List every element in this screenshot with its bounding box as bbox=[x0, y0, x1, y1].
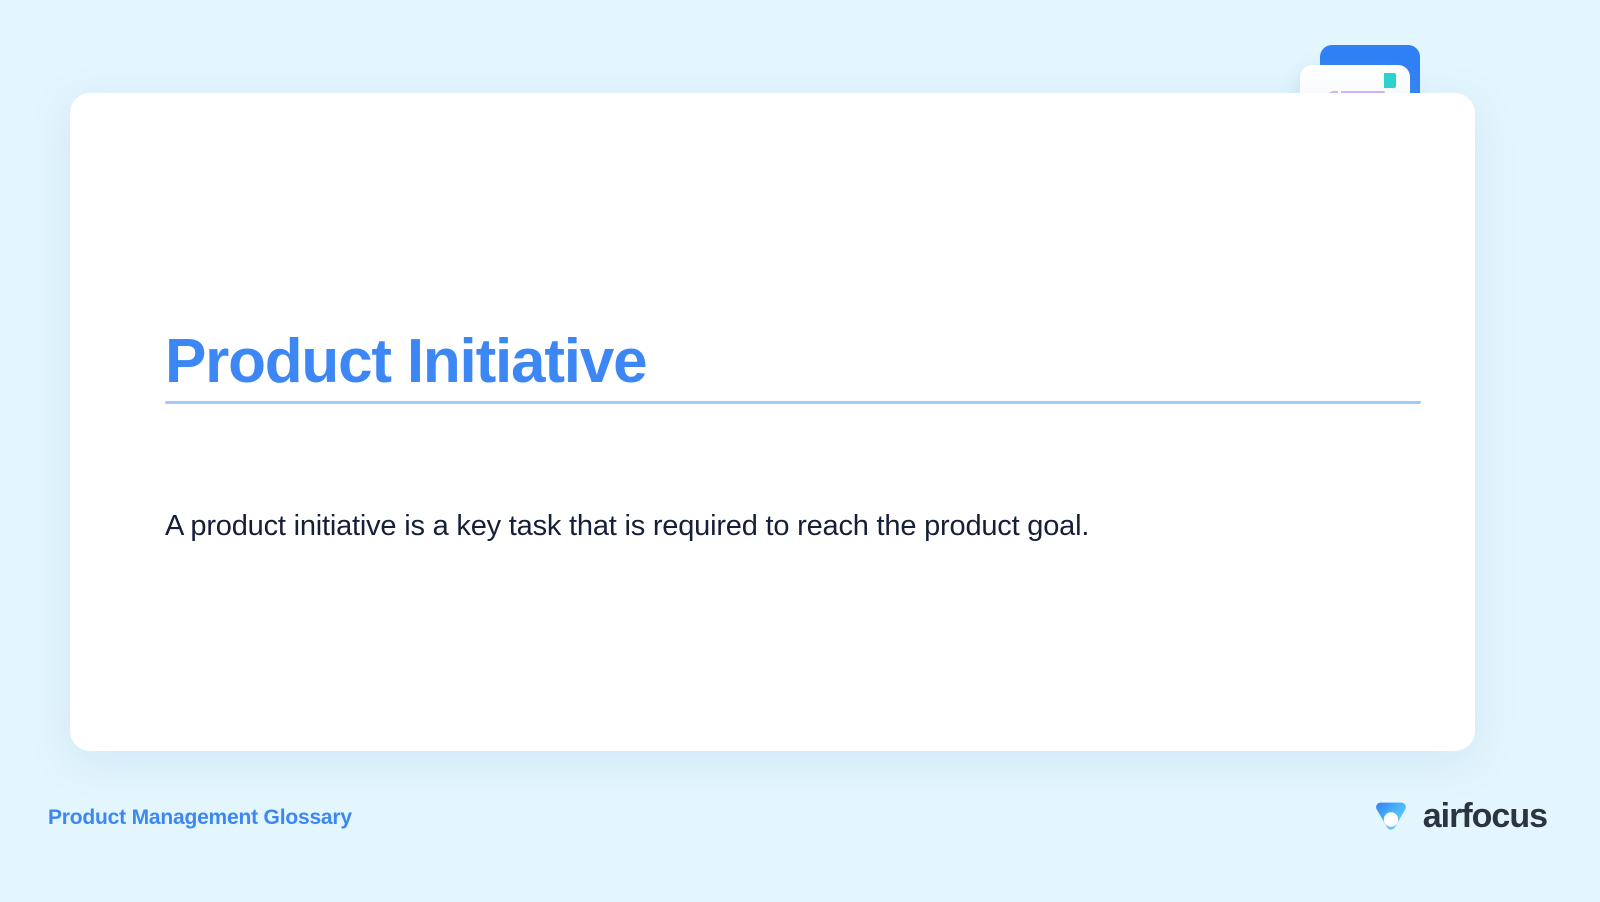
glossary-footer-label[interactable]: Product Management Glossary bbox=[48, 806, 352, 830]
bookmark-tab-teal-icon bbox=[1384, 73, 1396, 88]
title-divider bbox=[165, 401, 1421, 404]
airfocus-brand[interactable]: airfocus bbox=[1371, 796, 1547, 836]
airfocus-wordmark: airfocus bbox=[1423, 799, 1547, 833]
airfocus-logo-icon bbox=[1371, 796, 1411, 836]
glossary-card: Product Initiative A product initiative … bbox=[70, 93, 1475, 751]
definition-text: A product initiative is a key task that … bbox=[165, 505, 1425, 547]
page-title: Product Initiative bbox=[165, 328, 646, 396]
